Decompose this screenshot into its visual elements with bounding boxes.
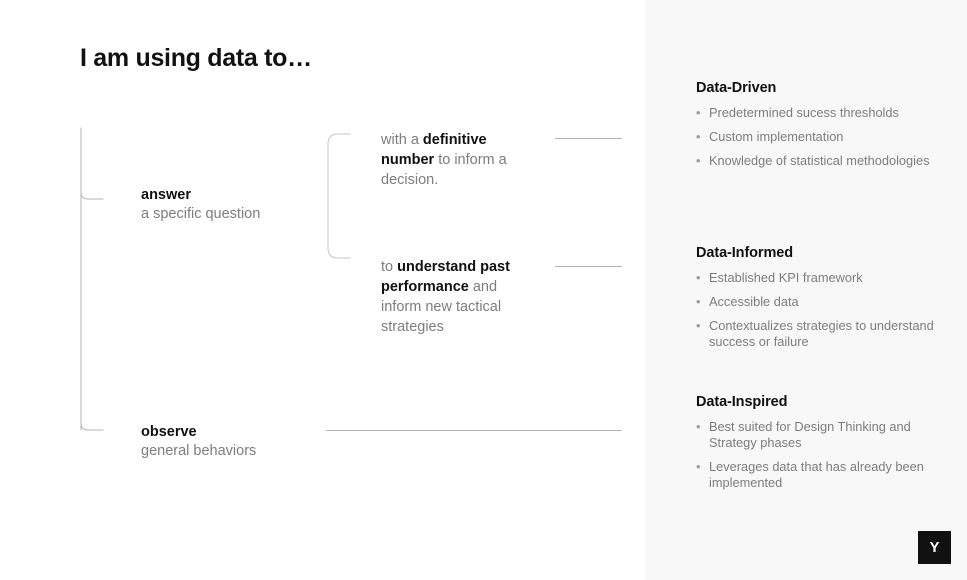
list-item: •Contextualizes strategies to understand…: [696, 318, 944, 350]
branch-label-answer: answer a specific question: [141, 186, 260, 224]
bullet-icon: •: [696, 318, 700, 334]
list-item: •Leverages data that has already been im…: [696, 459, 944, 491]
panel-group-data-inspired: Data-Inspired •Best suited for Design Th…: [696, 394, 944, 491]
bullet-icon: •: [696, 294, 700, 310]
list-item-text: Predetermined sucess thresholds: [709, 105, 899, 120]
outcome-text-definitive-number: with a definitive number to inform a dec…: [381, 130, 533, 190]
page-title: I am using data to…: [80, 44, 312, 73]
panel-group-heading: Data-Informed: [696, 245, 944, 261]
list-item: •Established KPI framework: [696, 270, 944, 286]
panel-group-list: •Best suited for Design Thinking and Str…: [696, 419, 944, 491]
list-item-text: Established KPI framework: [709, 270, 863, 285]
brand-logo-mark: Y: [929, 539, 939, 556]
bullet-icon: •: [696, 419, 700, 435]
slide-canvas: I am using data to… answer a specific qu…: [0, 0, 967, 580]
list-item-text: Best suited for Design Thinking and Stra…: [709, 419, 911, 450]
list-item: •Knowledge of statistical methodologies: [696, 153, 944, 169]
list-item-text: Leverages data that has already been imp…: [709, 459, 924, 490]
bullet-icon: •: [696, 459, 700, 475]
brand-logo-badge: Y: [918, 531, 951, 564]
connector-rule-middle: [555, 266, 622, 267]
list-item: •Predetermined sucess thresholds: [696, 105, 944, 121]
list-item-text: Contextualizes strategies to understand …: [709, 318, 934, 349]
outcome-text-past-performance: to understand past performance and infor…: [381, 257, 533, 337]
list-item-text: Knowledge of statistical methodologies: [709, 153, 930, 168]
list-item: •Accessible data: [696, 294, 944, 310]
panel-group-heading: Data-Driven: [696, 80, 944, 96]
list-item-text: Accessible data: [709, 294, 799, 309]
right-info-panel: Data-Driven •Predetermined sucess thresh…: [645, 0, 967, 580]
bullet-icon: •: [696, 270, 700, 286]
branch-term: answer: [141, 186, 260, 205]
connector-rule-observe: [326, 430, 622, 431]
outcome-lead: with a: [381, 132, 423, 148]
panel-group-heading: Data-Inspired: [696, 394, 944, 410]
inner-bracket-path: [328, 134, 350, 258]
connector-rule-top: [555, 138, 622, 139]
branch-desc: general behaviors: [141, 442, 256, 461]
panel-group-list: •Predetermined sucess thresholds •Custom…: [696, 105, 944, 169]
left-content-pane: I am using data to… answer a specific qu…: [0, 0, 645, 580]
bullet-icon: •: [696, 105, 700, 121]
branch-label-observe: observe general behaviors: [141, 423, 256, 461]
list-item-text: Custom implementation: [709, 129, 843, 144]
outer-bracket-path: [81, 128, 103, 199]
list-item: •Custom implementation: [696, 129, 944, 145]
branch-desc: a specific question: [141, 205, 260, 224]
panel-group-list: •Established KPI framework •Accessible d…: [696, 270, 944, 350]
bullet-icon: •: [696, 153, 700, 169]
panel-group-data-driven: Data-Driven •Predetermined sucess thresh…: [696, 80, 944, 169]
bullet-icon: •: [696, 129, 700, 145]
branch-term: observe: [141, 423, 256, 442]
bracket-connectors: [0, 0, 645, 580]
outcome-lead: to: [381, 259, 397, 275]
panel-group-data-informed: Data-Informed •Established KPI framework…: [696, 245, 944, 350]
outer-bracket-bottom-arm: [81, 370, 103, 430]
list-item: •Best suited for Design Thinking and Str…: [696, 419, 944, 451]
